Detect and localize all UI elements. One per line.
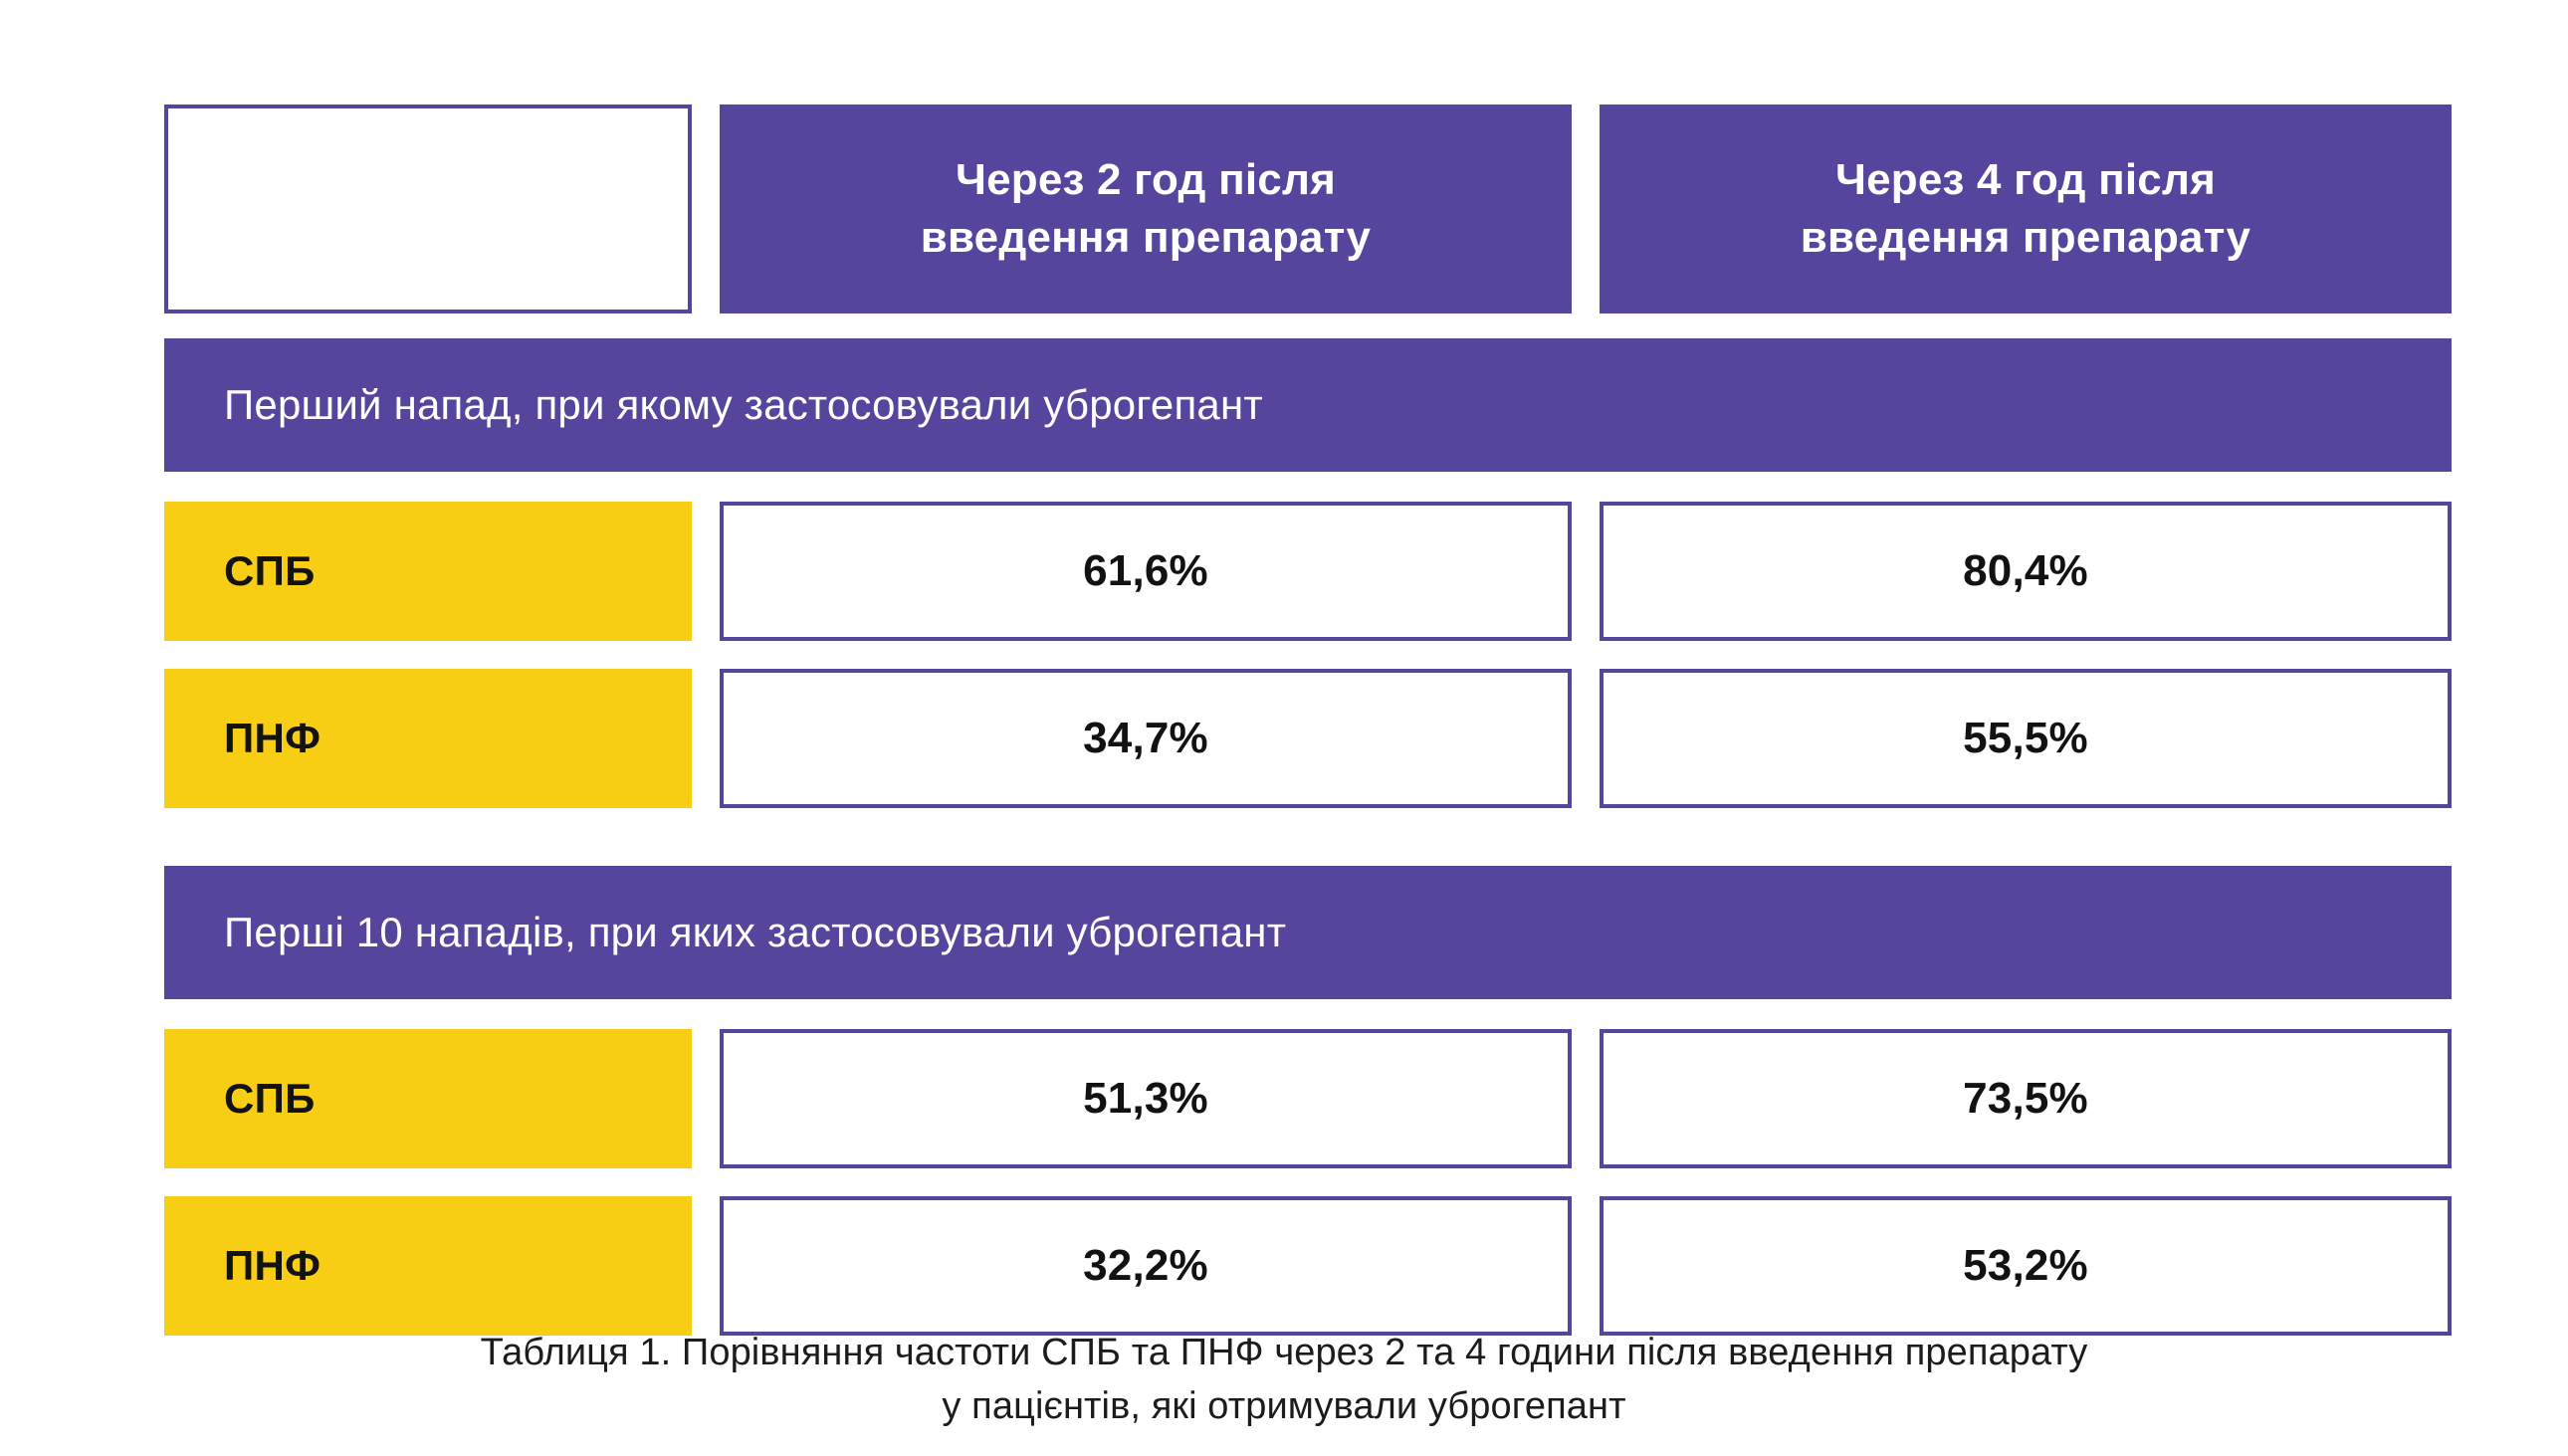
header-column-2h: Через 2 год після введення препарату <box>720 104 1572 313</box>
row-label-spb-1-text: СПБ <box>224 547 316 595</box>
cell-pnf-1-2h: 34,7% <box>720 669 1572 808</box>
section-band-first-attack: Перший напад, при якому застосовували уб… <box>164 338 2452 472</box>
row-label-pnf-1-text: ПНФ <box>224 715 321 762</box>
column-gap <box>692 1029 720 1168</box>
cell-spb-2-4h-value: 73,5% <box>1963 1074 2088 1124</box>
header-2h-line2: введення препарату <box>921 213 1371 262</box>
column-gap <box>692 669 720 808</box>
header-column-4h: Через 4 год після введення препарату <box>1600 104 2452 313</box>
row-label-pnf-2: ПНФ <box>164 1196 692 1336</box>
table-caption: Таблиця 1. Порівняння частоти СПБ та ПНФ… <box>0 1327 2568 1434</box>
table-row: ПНФ 32,2% 53,2% <box>164 1196 2452 1336</box>
header-4h-line1: Через 4 год після <box>1835 155 2216 204</box>
header-column-2h-text: Через 2 год після введення препарату <box>921 151 1371 267</box>
column-gap <box>1572 1196 1600 1336</box>
cell-spb-1-2h-value: 61,6% <box>1083 546 1208 596</box>
cell-spb-2-2h: 51,3% <box>720 1029 1572 1168</box>
cell-pnf-2-4h-value: 53,2% <box>1963 1241 2088 1291</box>
cell-pnf-1-4h: 55,5% <box>1600 669 2452 808</box>
column-gap <box>1572 669 1600 808</box>
column-gap <box>1572 502 1600 641</box>
row-label-spb-2: СПБ <box>164 1029 692 1168</box>
comparison-table: Через 2 год після введення препарату Чер… <box>164 104 2452 1336</box>
section-band-first-10-attacks-label: Перші 10 нападів, при яких застосовували… <box>224 909 1286 956</box>
column-gap <box>692 502 720 641</box>
header-4h-line2: введення препарату <box>1801 213 2250 262</box>
cell-pnf-2-4h: 53,2% <box>1600 1196 2452 1336</box>
header-column-4h-text: Через 4 год після введення препарату <box>1801 151 2250 267</box>
table-header-row: Через 2 год після введення препарату Чер… <box>164 104 2452 313</box>
caption-line-2: у пацієнтів, які отримували уброгепант <box>0 1380 2568 1434</box>
table-figure: Через 2 год після введення препарату Чер… <box>0 0 2568 1456</box>
table-row: СПБ 61,6% 80,4% <box>164 502 2452 641</box>
section-band-first-10-attacks: Перші 10 нападів, при яких застосовували… <box>164 866 2452 999</box>
header-2h-line1: Через 2 год після <box>956 155 1336 204</box>
cell-pnf-1-4h-value: 55,5% <box>1963 714 2088 763</box>
section-spacer <box>164 836 2452 866</box>
table-row: ПНФ 34,7% 55,5% <box>164 669 2452 808</box>
row-label-spb-1: СПБ <box>164 502 692 641</box>
column-gap <box>692 1196 720 1336</box>
header-corner-cell <box>164 104 692 313</box>
cell-spb-1-2h: 61,6% <box>720 502 1572 641</box>
column-gap <box>692 104 720 313</box>
cell-spb-1-4h: 80,4% <box>1600 502 2452 641</box>
cell-spb-1-4h-value: 80,4% <box>1963 546 2088 596</box>
row-label-spb-2-text: СПБ <box>224 1075 316 1123</box>
cell-pnf-1-2h-value: 34,7% <box>1083 714 1208 763</box>
cell-pnf-2-2h-value: 32,2% <box>1083 1241 1208 1291</box>
column-gap <box>1572 1029 1600 1168</box>
table-row: СПБ 51,3% 73,5% <box>164 1029 2452 1168</box>
cell-spb-2-2h-value: 51,3% <box>1083 1074 1208 1124</box>
caption-line-1: Таблиця 1. Порівняння частоти СПБ та ПНФ… <box>0 1327 2568 1380</box>
cell-pnf-2-2h: 32,2% <box>720 1196 1572 1336</box>
cell-spb-2-4h: 73,5% <box>1600 1029 2452 1168</box>
row-label-pnf-1: ПНФ <box>164 669 692 808</box>
row-label-pnf-2-text: ПНФ <box>224 1242 321 1290</box>
column-gap <box>1572 104 1600 313</box>
section-band-first-attack-label: Перший напад, при якому застосовували уб… <box>224 381 1263 429</box>
